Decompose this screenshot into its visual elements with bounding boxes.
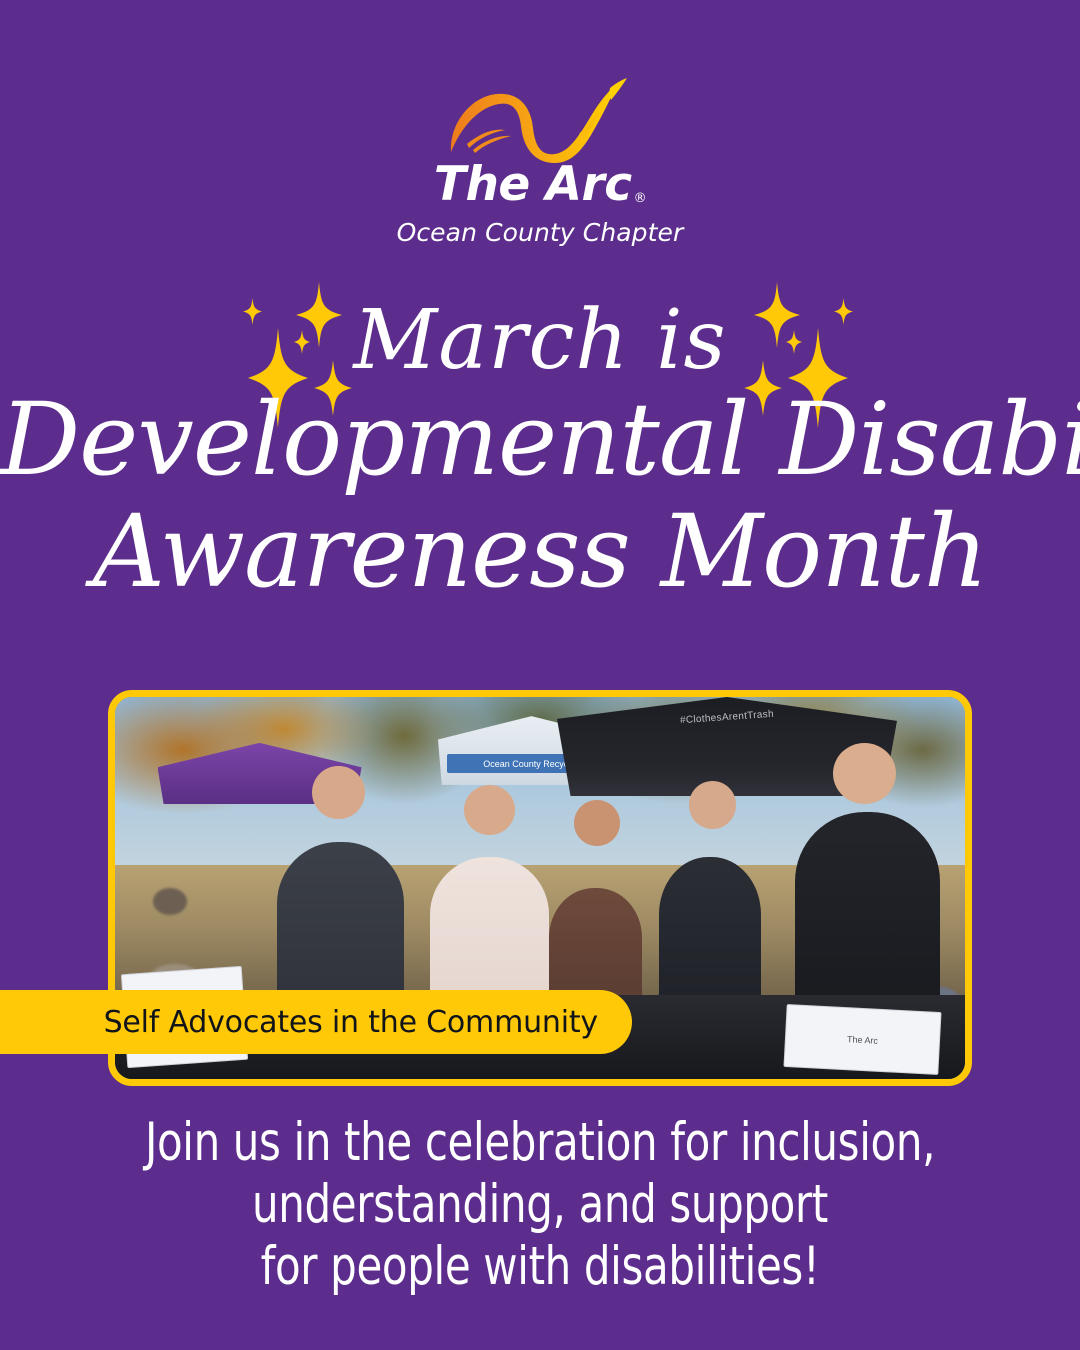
photo-caption-banner: Self Advocates in the Community: [0, 990, 632, 1054]
logo-chapter-name: Ocean County Chapter: [0, 218, 1080, 247]
photo-arc-table-sign: The Arc: [783, 1004, 941, 1075]
photo-foreground-person-head: [464, 785, 515, 835]
logo-wordmark-text: The Arc: [434, 157, 632, 212]
organization-logo: The Arc® Ocean County Chapter: [0, 78, 1080, 247]
footer-line-1: Join us in the celebration for inclusion…: [65, 1112, 1015, 1174]
headline: March is Developmental Disabilities Awar…: [0, 300, 1080, 610]
footer-message: Join us in the celebration for inclusion…: [65, 1112, 1015, 1298]
footer-line-2: understanding, and support: [65, 1174, 1015, 1236]
photo-foreground-person-head: [833, 743, 896, 804]
logo-wordmark: The Arc®: [434, 160, 646, 209]
footer-line-3: for people with disabilities!: [65, 1236, 1015, 1298]
arc-swoosh-icon: [445, 78, 635, 164]
headline-line-2: Developmental Disabilities: [0, 382, 1080, 498]
photo-caption-text: Self Advocates in the Community: [104, 1005, 598, 1040]
headline-line-1: March is: [0, 300, 1080, 382]
photo-foreground-person-head: [312, 766, 365, 819]
photo-foreground-person-head: [574, 800, 620, 846]
photo-background-person: [153, 888, 187, 915]
photo-foreground-person-head: [689, 781, 737, 829]
headline-line-3: Awareness Month: [0, 494, 1080, 610]
registered-trademark-icon: ®: [634, 191, 647, 206]
poster-canvas: The Arc® Ocean County Chapter: [0, 0, 1080, 1350]
photo-arc-table-sign-text: The Arc: [846, 1034, 877, 1046]
